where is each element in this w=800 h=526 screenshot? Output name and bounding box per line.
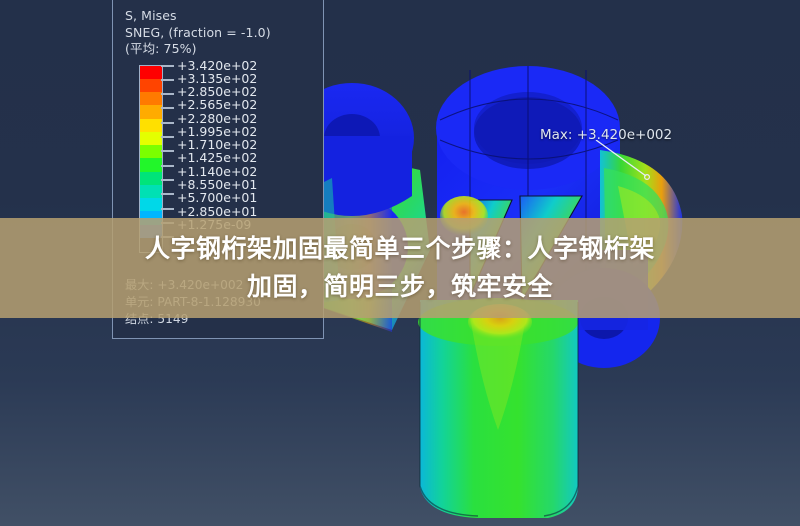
legend-tick-2 — [161, 93, 174, 95]
legend-tick-3 — [161, 107, 174, 109]
legend-value-list: +3.420e+02+3.135e+02+2.850e+02+2.565e+02… — [177, 59, 257, 232]
legend-color-band-8 — [140, 172, 162, 185]
legend-value-7: +1.425e+02 — [177, 151, 257, 164]
legend-color-band-2 — [140, 92, 162, 105]
legend-color-band-10 — [140, 198, 162, 211]
legend-color-band-4 — [140, 119, 162, 132]
legend-value-9: +8.550e+01 — [177, 178, 257, 191]
legend-color-band-9 — [140, 185, 162, 198]
fea-screenshot: S, Mises SNEG, (fraction = -1.0) (平均: 75… — [0, 0, 800, 526]
legend-color-band-3 — [140, 105, 162, 118]
legend-tick-7 — [161, 165, 174, 167]
legend-value-3: +2.565e+02 — [177, 98, 257, 111]
legend-value-8: +1.140e+02 — [177, 165, 257, 178]
legend-average: (平均: 75%) — [125, 41, 323, 58]
legend-tick-6 — [161, 150, 174, 152]
legend-value-2: +2.850e+02 — [177, 85, 257, 98]
caption-text: 人字钢桁架加固最简单三个步骤：人字钢桁架 加固，简明三步，筑牢安全 — [0, 218, 800, 318]
legend-color-band-1 — [140, 79, 162, 92]
caption-line-1: 人字钢桁架加固最简单三个步骤：人字钢桁架 — [145, 230, 655, 268]
legend-tick-1 — [161, 79, 174, 81]
legend-value-11: +2.850e+01 — [177, 205, 257, 218]
model-shaft — [418, 298, 578, 518]
legend-value-1: +3.135e+02 — [177, 72, 257, 85]
legend-subtitle: SNEG, (fraction = -1.0) — [125, 25, 323, 42]
legend-color-band-6 — [140, 145, 162, 158]
legend-color-band-5 — [140, 132, 162, 145]
caption-line-2: 加固，简明三步，筑牢安全 — [247, 268, 553, 306]
legend-color-band-0 — [140, 66, 162, 79]
legend-value-0: +3.420e+02 — [177, 59, 257, 72]
legend-tick-9 — [161, 193, 174, 195]
legend-value-4: +2.280e+02 — [177, 112, 257, 125]
legend-tick-4 — [161, 122, 174, 124]
max-leader-line — [594, 140, 664, 184]
legend-value-10: +5.700e+01 — [177, 191, 257, 204]
legend-tick-5 — [161, 136, 174, 138]
legend-tick-8 — [161, 179, 174, 181]
legend-value-5: +1.995e+02 — [177, 125, 257, 138]
legend-value-6: +1.710e+02 — [177, 138, 257, 151]
legend-color-band-7 — [140, 158, 162, 171]
legend-tick-0 — [161, 65, 174, 67]
legend-tick-10 — [161, 208, 174, 210]
legend-title: S, Mises — [125, 8, 323, 25]
